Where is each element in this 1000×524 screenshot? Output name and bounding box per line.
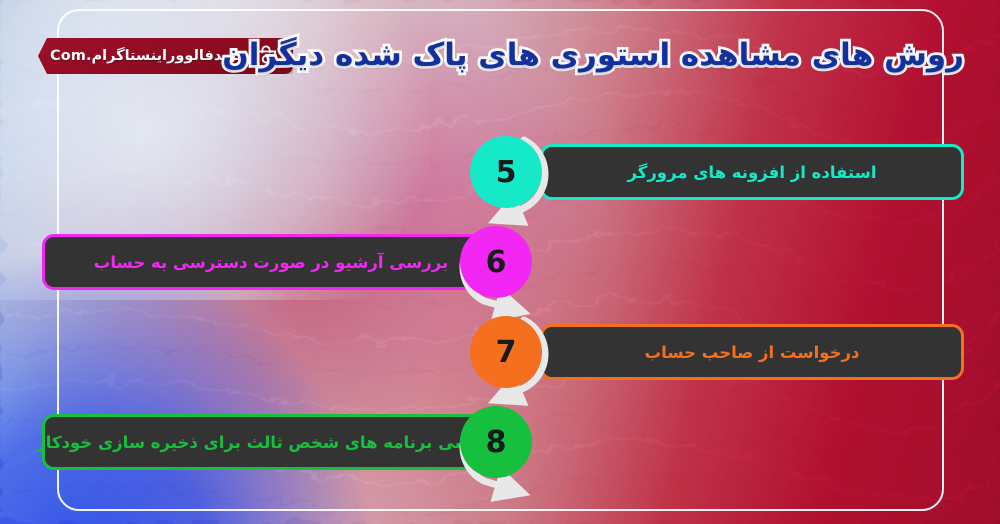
infographic-canvas: خریدفالووراینستاگرام.Com روش های مشاهده … xyxy=(0,0,1000,524)
step-number-8: 8 xyxy=(486,425,507,460)
step-number-7: 7 xyxy=(496,335,517,370)
step-bar-7[interactable]: درخواست از صاحب حساب xyxy=(540,324,964,380)
step-row-5: استفاده از افزونه های مرورگر 5 xyxy=(0,136,1000,222)
step-number-circle-6[interactable]: 6 xyxy=(460,226,532,298)
step-number-5: 5 xyxy=(496,155,517,190)
step-label-6: بررسی آرشیو در صورت دسترسی به حساب xyxy=(45,253,497,272)
step-bar-5[interactable]: استفاده از افزونه های مرورگر xyxy=(540,144,964,200)
step-label-7: درخواست از صاحب حساب xyxy=(543,343,961,362)
step-row-7: درخواست از صاحب حساب 7 xyxy=(0,316,1000,402)
step-bar-8[interactable]: بررسی برنامه های شخص ثالث برای ذخیره ساز… xyxy=(42,414,500,470)
step-number-6: 6 xyxy=(486,245,507,280)
step-number-circle-8[interactable]: 8 xyxy=(460,406,532,478)
step-bar-6[interactable]: بررسی آرشیو در صورت دسترسی به حساب xyxy=(42,234,500,290)
brand-label: خریدفالووراینستاگرام.Com xyxy=(50,48,247,64)
step-row-8: بررسی برنامه های شخص ثالث برای ذخیره ساز… xyxy=(0,406,1000,492)
step-label-8: بررسی برنامه های شخص ثالث برای ذخیره ساز… xyxy=(45,433,497,452)
step-row-6: بررسی آرشیو در صورت دسترسی به حساب 6 xyxy=(0,226,1000,312)
step-number-circle-5[interactable]: 5 xyxy=(470,136,542,208)
step-number-circle-7[interactable]: 7 xyxy=(470,316,542,388)
step-label-5: استفاده از افزونه های مرورگر xyxy=(543,163,961,182)
page-title: روش های مشاهده استوری های پاک شده دیگران xyxy=(244,24,964,86)
header: خریدفالووراینستاگرام.Com روش های مشاهده … xyxy=(0,24,1000,86)
